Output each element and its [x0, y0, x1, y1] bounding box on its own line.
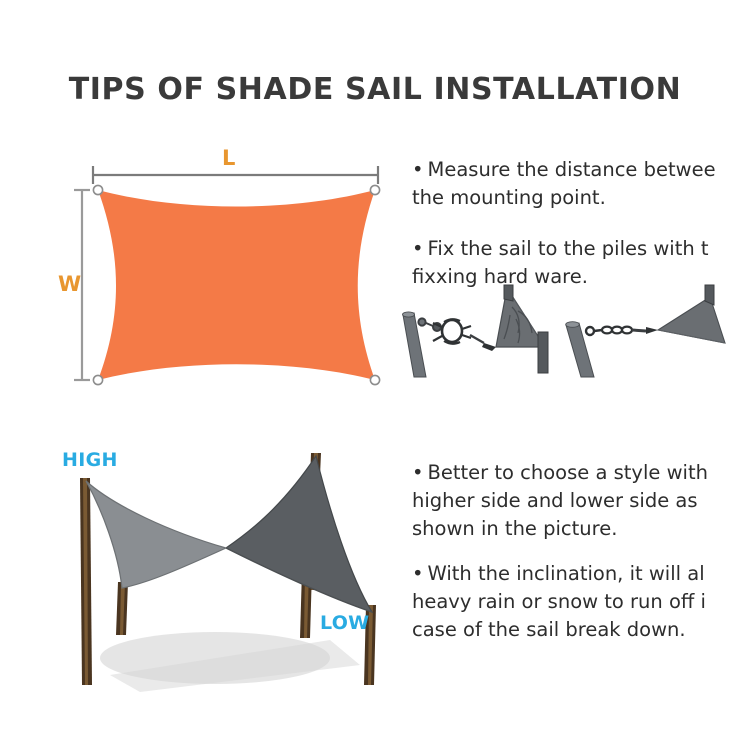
tip-inclination-runoff: •With the inclination, it will al heavy … — [412, 560, 706, 644]
tip-choose-style: •Better to choose a style with higher si… — [412, 459, 708, 543]
sail-corner-panel — [496, 285, 548, 373]
tip-fix-sail-to-piles: •Fix the sail to the piles with t fixxin… — [412, 235, 709, 291]
hardware-2-svg — [562, 285, 750, 377]
inclined-sail-scene-diagram — [30, 440, 420, 710]
chain-links-icon — [602, 327, 632, 334]
width-label: W — [58, 272, 81, 296]
tensioner-rod-icon — [632, 327, 658, 334]
hardware-fitting-illustration-1 — [400, 285, 585, 377]
sail-dark-rear — [226, 456, 372, 612]
tip-line: •Fix the sail to the piles with t — [412, 235, 709, 263]
tip-line: heavy rain or snow to run off i — [412, 588, 706, 616]
tip-text: Better to choose a style with — [428, 461, 708, 484]
tip-text: With the inclination, it will al — [428, 562, 705, 585]
hardware-1-svg — [400, 285, 585, 377]
carabiner-icon — [586, 327, 602, 335]
pole-high-left — [80, 478, 92, 685]
high-side-label: HIGH — [62, 449, 118, 471]
tip-line: case of the sail break down. — [412, 616, 706, 644]
sail-fabric-shape — [98, 190, 375, 380]
bullet-icon: • — [412, 562, 424, 585]
bullet-icon: • — [412, 158, 424, 181]
page-title: TIPS OF SHADE SAIL INSTALLATION — [0, 72, 750, 107]
tip-line: the mounting point. — [412, 184, 716, 212]
rect-shade-sail-diagram — [60, 140, 400, 400]
tip-line: higher side and lower side as — [412, 487, 708, 515]
connector-rod-icon — [470, 335, 496, 351]
infographic-page: TIPS OF SHADE SAIL INSTALLATION — [0, 0, 750, 750]
tip-measure-distance: •Measure the distance betwee the mountin… — [412, 156, 716, 212]
tip-text: Fix the sail to the piles with t — [428, 237, 709, 260]
tip-line: •Better to choose a style with — [412, 459, 708, 487]
tip-line: •With the inclination, it will al — [412, 560, 706, 588]
mounting-pole-icon — [566, 322, 594, 377]
tip-line: shown in the picture. — [412, 515, 708, 543]
inclined-sail-svg — [30, 440, 420, 710]
sail-light-front — [86, 481, 226, 588]
tip-text: Measure the distance betwee — [428, 158, 716, 181]
hardware-fitting-illustration-2 — [562, 285, 750, 377]
tip-line: •Measure the distance betwee — [412, 156, 716, 184]
bullet-icon: • — [412, 237, 424, 260]
low-side-label: LOW — [320, 612, 369, 634]
bullet-icon: • — [412, 461, 424, 484]
rect-sail-svg — [60, 140, 400, 400]
sail-corner-panel — [658, 285, 725, 343]
pole-short-middle-left — [116, 582, 128, 635]
length-label: L — [222, 146, 235, 170]
length-dimension-line — [93, 166, 378, 184]
